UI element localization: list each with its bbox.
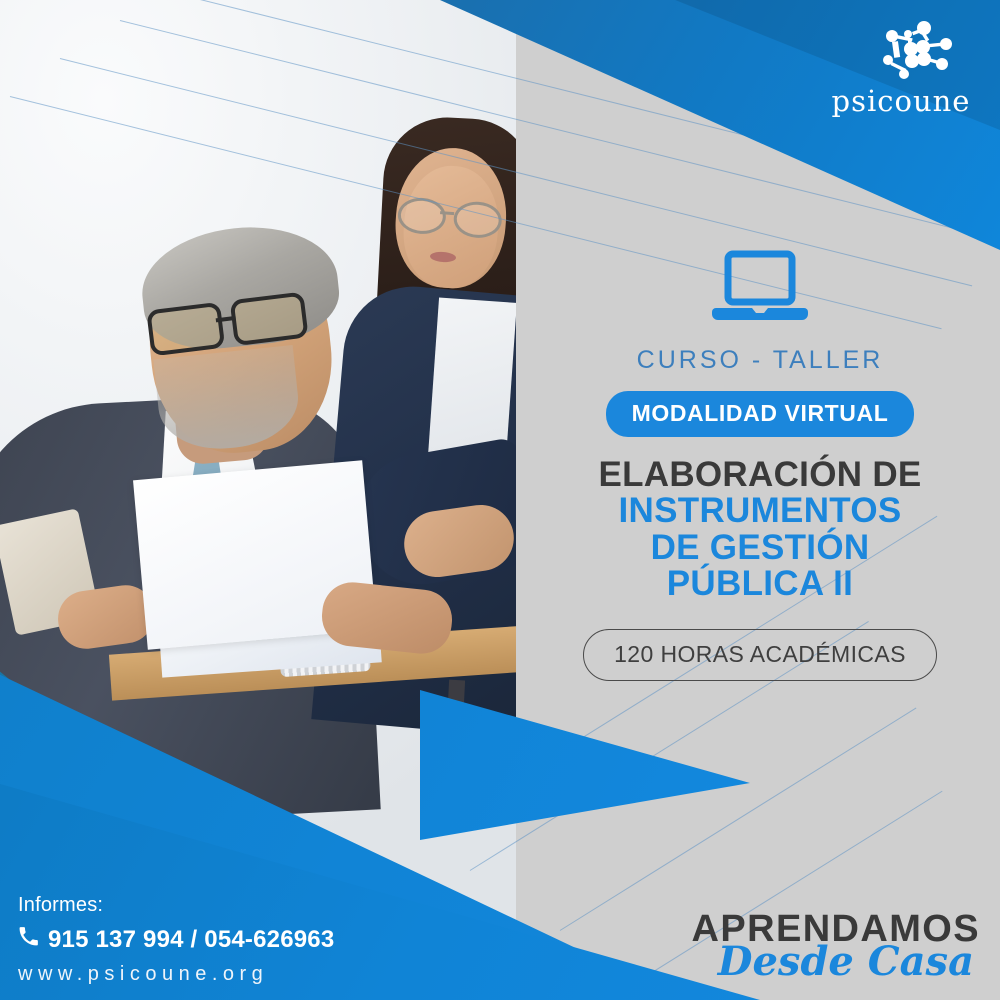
- brand-logo[interactable]: psicoune: [826, 20, 976, 120]
- course-info-block: CURSO - TALLER MODALIDAD VIRTUAL ELABORA…: [540, 250, 980, 681]
- course-title-line1: ELABORACIÓN DE: [540, 457, 980, 493]
- tagline-line2: Desde Casa: [692, 942, 974, 982]
- course-title-line4: PÚBLICA II: [540, 566, 980, 602]
- course-kicker: CURSO - TALLER: [540, 346, 980, 375]
- promo-poster: psicoune CURSO - TALLER MODALIDAD VIRTUA…: [0, 0, 1000, 1000]
- brand-wordmark: psicoune: [826, 84, 976, 118]
- modality-badge: MODALIDAD VIRTUAL: [606, 391, 915, 437]
- course-title-line3: DE GESTIÓN: [540, 530, 980, 566]
- hours-badge: 120 HORAS ACADÉMICAS: [583, 629, 937, 681]
- woman-glasses-icon: [397, 196, 507, 233]
- informes-label: Informes:: [18, 894, 334, 917]
- laptop-icon: [712, 250, 808, 324]
- molecule-network-icon: [868, 20, 954, 82]
- tagline: APRENDAMOS Desde Casa: [692, 910, 980, 982]
- website-url[interactable]: www.psicoune.org: [18, 963, 334, 986]
- contact-info: Informes: 915 137 994 / 054-626963 www.p…: [18, 894, 334, 986]
- phone-icon: [18, 926, 39, 954]
- phone-numbers: 915 137 994 / 054-626963: [48, 926, 334, 954]
- phone-row[interactable]: 915 137 994 / 054-626963: [18, 926, 334, 954]
- course-title-line2: INSTRUMENTOS: [540, 493, 980, 529]
